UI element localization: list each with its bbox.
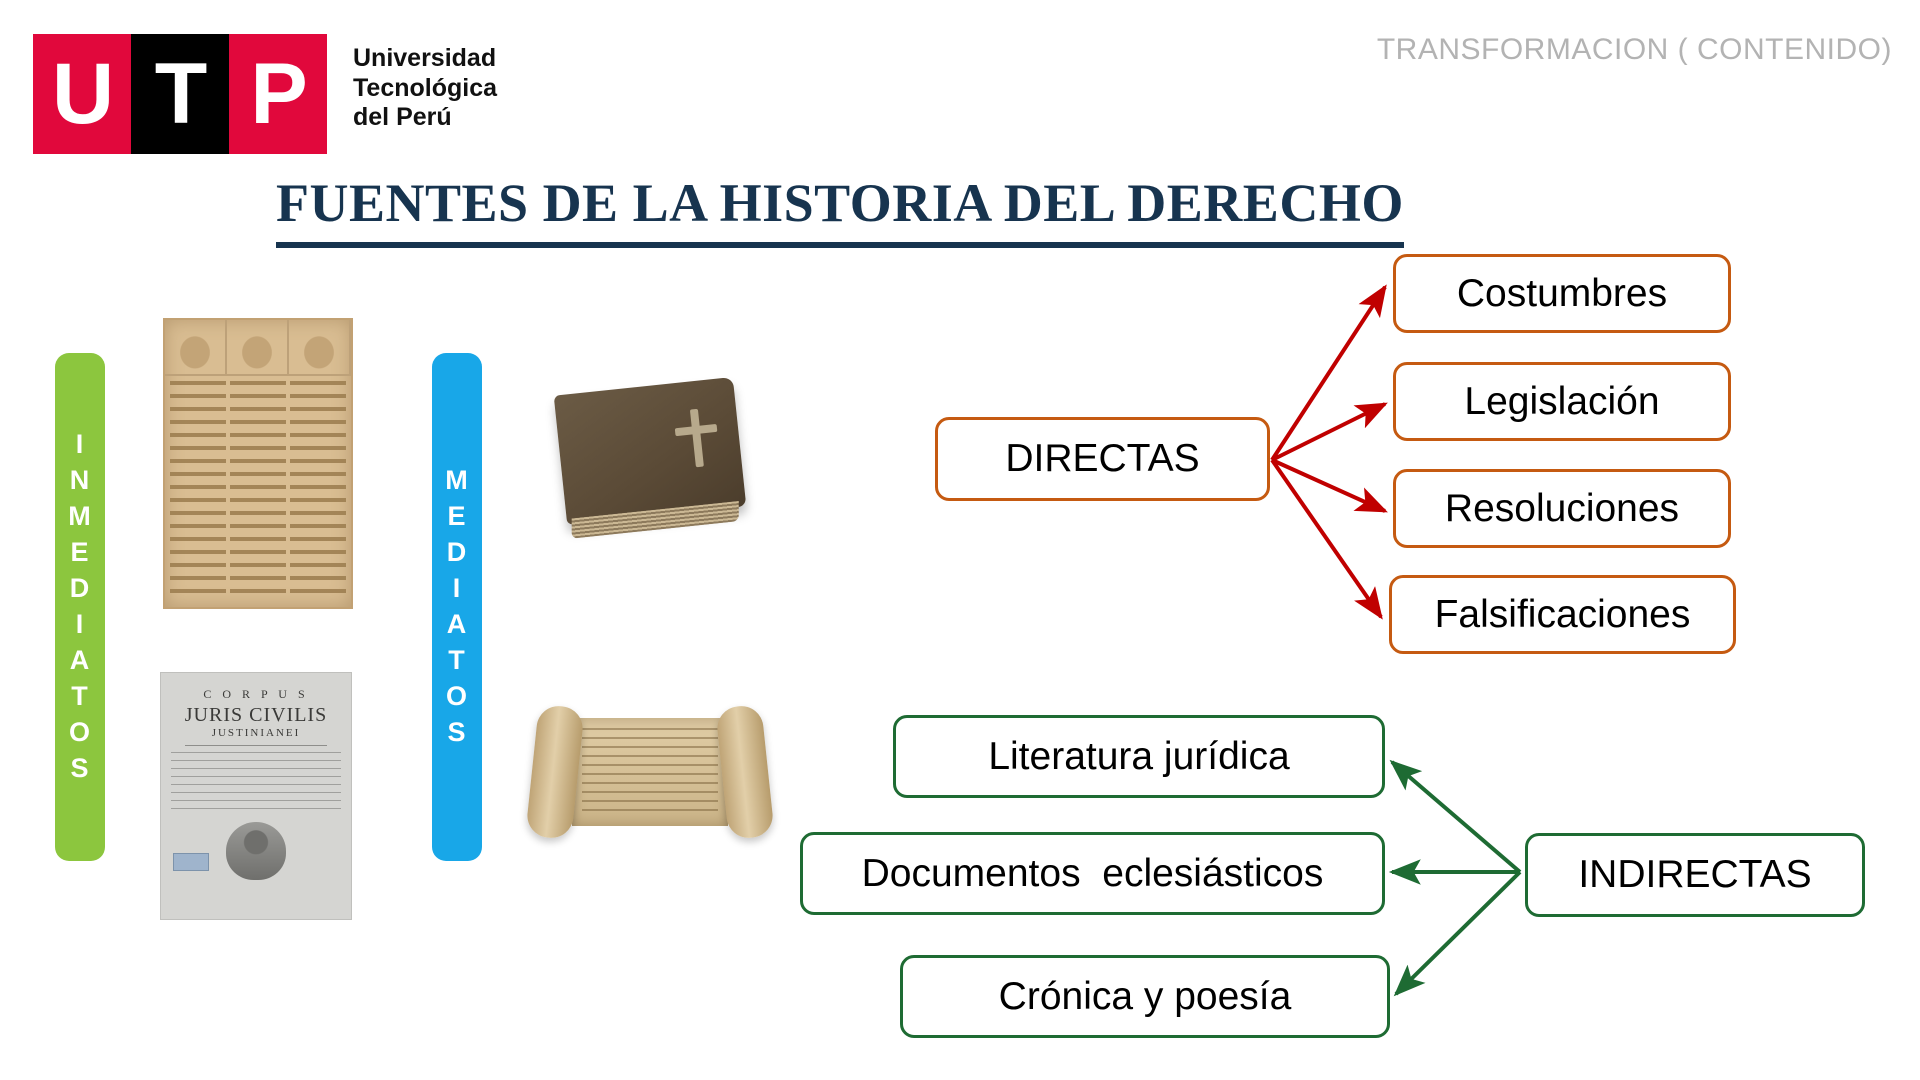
bar-letter: S: [447, 715, 466, 751]
node-indirectas[interactable]: INDIRECTAS: [1525, 833, 1865, 917]
utp-logo-block-u: U: [33, 34, 131, 154]
bar-letter: E: [447, 499, 466, 535]
corpus-label-sticker: [173, 853, 209, 871]
stone-tablet-image: [163, 318, 353, 609]
bible-book-image: [554, 377, 747, 525]
utp-logo-block-t: T: [131, 34, 229, 154]
tablet-relief-band: [165, 320, 351, 376]
bar-letter: O: [69, 715, 91, 751]
university-name-line-2: Tecnológica: [353, 74, 497, 104]
bar-letter: I: [76, 607, 85, 643]
corpus-title-line-1: C O R P U S: [171, 687, 341, 702]
bar-letter: D: [70, 571, 91, 607]
bar-letter: I: [76, 427, 85, 463]
scroll-sheet: [572, 718, 728, 826]
utp-logo-block-p: P: [229, 34, 327, 154]
category-bar-inmediatos: I N M E D I A T O S: [55, 353, 105, 861]
bar-letter: A: [447, 607, 468, 643]
arrows-directas: [1272, 287, 1385, 617]
node-directas[interactable]: DIRECTAS: [935, 417, 1270, 501]
university-name-line-3: del Perú: [353, 103, 497, 133]
bar-letter: I: [453, 571, 462, 607]
node-literatura-juridica[interactable]: Literatura jurídica: [893, 715, 1385, 798]
utp-logo-blocks: U T P: [33, 34, 327, 154]
corpus-juris-civilis-image: C O R P U S JURIS CIVILIS JUSTINIANEI: [160, 672, 352, 920]
corpus-title-line-3: JUSTINIANEI: [171, 727, 341, 739]
arrow-directas-costumbres: [1272, 287, 1385, 460]
page-title: FUENTES DE LA HISTORIA DEL DERECHO: [276, 172, 1404, 248]
bar-letter: M: [68, 499, 92, 535]
node-documentos-eclesiasticos[interactable]: Documentos eclesiásticos: [800, 832, 1385, 915]
arrow-directas-resoluciones: [1272, 460, 1385, 511]
corpus-divider: [185, 745, 327, 746]
utp-logo-letter-t: T: [155, 51, 206, 137]
bar-letter: S: [70, 751, 89, 787]
corpus-crest-icon: [226, 822, 286, 880]
arrow-indirectas-cronica: [1396, 872, 1520, 994]
bar-letter: T: [71, 679, 89, 715]
arrows-indirectas: [1392, 762, 1520, 994]
university-name: Universidad Tecnológica del Perú: [353, 44, 497, 133]
utp-logo-letter-p: P: [250, 51, 305, 137]
corpus-body-text: [171, 752, 341, 814]
arrow-indirectas-literatura: [1392, 762, 1520, 872]
parchment-scroll-image: [530, 700, 770, 850]
bar-letter: E: [70, 535, 89, 571]
header-section-tag: TRANSFORMACION ( CONTENIDO): [1377, 33, 1892, 67]
bar-letter: D: [447, 535, 468, 571]
bar-letter: A: [70, 643, 91, 679]
node-costumbres[interactable]: Costumbres: [1393, 254, 1731, 333]
node-cronica-y-poesia[interactable]: Crónica y poesía: [900, 955, 1390, 1038]
arrow-directas-falsificaciones: [1272, 460, 1381, 617]
category-bar-mediatos: M E D I A T O S: [432, 353, 482, 861]
utp-logo-letter-u: U: [52, 51, 112, 137]
node-legislacion[interactable]: Legislación: [1393, 362, 1731, 441]
bar-letter: M: [445, 463, 469, 499]
arrow-directas-legislacion: [1272, 404, 1385, 460]
bar-letter: T: [448, 643, 466, 679]
bar-letter: O: [446, 679, 468, 715]
university-name-line-1: Universidad: [353, 44, 497, 74]
utp-logo: U T P Universidad Tecnológica del Perú: [33, 34, 443, 154]
tablet-text-columns: [165, 376, 351, 607]
node-resoluciones[interactable]: Resoluciones: [1393, 469, 1731, 548]
bar-letter: N: [70, 463, 91, 499]
corpus-title-line-2: JURIS CIVILIS: [171, 704, 341, 727]
node-falsificaciones[interactable]: Falsificaciones: [1389, 575, 1736, 654]
